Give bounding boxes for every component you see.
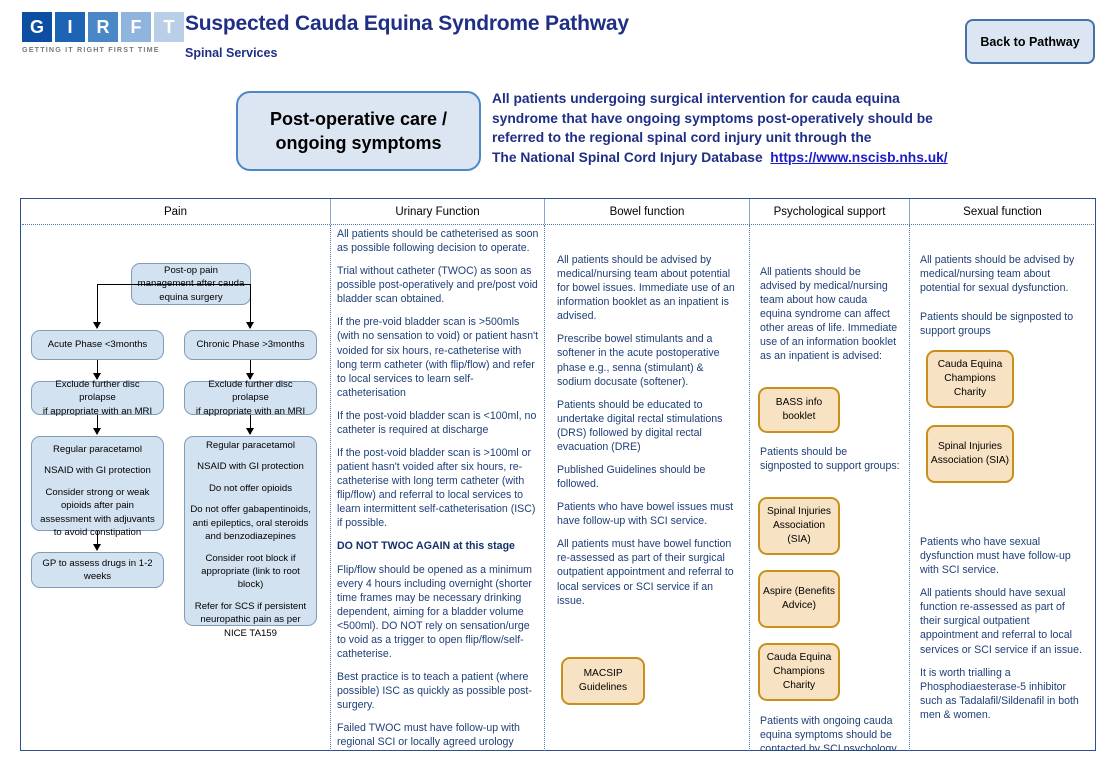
post-operative-care-box: Post-operative care / ongoing symptoms: [236, 91, 481, 171]
urinary-bold-warning-text: DO NOT TWOC AGAIN at this stage: [337, 540, 515, 552]
sexual-body-text: Patients who have sexual dysfunction mus…: [920, 535, 1088, 722]
urinary-para-5: catheter is required at discharge: [337, 423, 539, 437]
bowel-body-text: All patients should be advised by medica…: [557, 253, 739, 608]
pain-gp-line1: GP to assess drugs in 1-2: [42, 557, 152, 570]
banner-section: Post-operative care / ongoing symptoms A…: [0, 86, 1100, 182]
pain-chronic-phase-box: Chronic Phase >3months: [184, 330, 317, 360]
logo-square-f: F: [121, 12, 151, 42]
pain-right-arrow: [246, 322, 254, 329]
sex-sia-line3: (SIA): [986, 455, 1009, 466]
page-subtitle: Spinal Services: [185, 46, 277, 60]
pain-chronic-medication-box: Regular paracetamol NSAID with GI protec…: [184, 436, 317, 626]
aspire-line3: Advice): [782, 600, 816, 611]
back-to-pathway-button[interactable]: Back to Pathway: [965, 19, 1095, 64]
logo-square-t: T: [154, 12, 184, 42]
psych-signpost-text: Patients should be signposted to support…: [760, 445, 900, 473]
psych-intro-text: All patients should be advised by medica…: [760, 265, 900, 364]
pain-split-line: [97, 284, 251, 285]
table-header-row: Pain Urinary Function Bowel function Psy…: [21, 199, 1095, 224]
column-psychological: All patients should be advised by medica…: [750, 225, 910, 751]
pain-acute-med-2: NSAID with GI protection: [37, 464, 158, 477]
pain-chronic-meds-arrow: [246, 428, 254, 435]
urinary-bold-warning: DO NOT TWOC AGAIN at this stage: [337, 539, 539, 553]
pain-gp-line2: weeks: [42, 570, 152, 583]
banner-text-line4: The National Spinal Cord Injury Database…: [492, 148, 1092, 168]
column-bowel: All patients should be advised by medica…: [545, 225, 750, 751]
macsip-line2: Guidelines: [579, 682, 627, 693]
pain-acute-med-1: Regular paracetamol: [37, 443, 158, 456]
psych-cecc-line1: Cauda Equina: [767, 652, 832, 663]
banner-box-line2: ongoing symptoms: [276, 131, 442, 155]
column-urinary: All patients should be catheterised as s…: [331, 225, 545, 751]
logo-tagline: GETTING IT RIGHT FIRST TIME: [22, 45, 184, 54]
column-header-urinary: Urinary Function: [331, 199, 545, 224]
pain-gp-arrow: [93, 544, 101, 551]
table-body-row: Post-op pain management after cauda equi…: [21, 225, 1095, 751]
sex-cecc-line2: Champions: [944, 373, 996, 384]
banner-text-line2: syndrome that have ongoing symptoms post…: [492, 109, 1092, 129]
column-header-pain: Pain: [21, 199, 331, 224]
pain-acute-medication-box: Regular paracetamol NSAID with GI protec…: [31, 436, 164, 531]
aspire-line2: (Benefits: [795, 586, 835, 597]
pain-acute-meds-arrow: [93, 428, 101, 435]
pathway-table: Pain Urinary Function Bowel function Psy…: [20, 198, 1096, 751]
psych-sia-line3: (SIA): [787, 534, 810, 545]
bowel-para-1: All patients should be advised by medica…: [557, 253, 739, 323]
sexual-intro-text: All patients should be advised by medica…: [920, 253, 1088, 295]
pain-gp-review-box: GP to assess drugs in 1-2 weeks: [31, 552, 164, 588]
nscisb-link[interactable]: https://www.nscisb.nhs.uk/: [770, 150, 947, 165]
page-header: G I R F T GETTING IT RIGHT FIRST TIME Su…: [0, 0, 1100, 82]
urinary-para-1: All patients should be catheterised as s…: [337, 227, 539, 255]
banner-box-line1: Post-operative care /: [270, 107, 447, 131]
pain-root-line1: Post-op pain: [138, 264, 245, 277]
sex-sia-line1: Spinal Injuries: [938, 441, 1002, 452]
column-header-psychological: Psychological support: [750, 199, 910, 224]
bowel-para-2: Prescribe bowel stimulants and a softene…: [557, 332, 739, 388]
pathway-page: G I R F T GETTING IT RIGHT FIRST TIME Su…: [0, 0, 1100, 761]
logo-squares: G I R F T: [22, 12, 184, 42]
urinary-para-4a: If the post-void bladder scan is <100ml,…: [337, 410, 536, 422]
sexual-signpost-text: Patients should be signposted to support…: [920, 310, 1088, 338]
aspire-benefits-advice-button[interactable]: Aspire (Benefits Advice): [758, 570, 840, 628]
page-title: Suspected Cauda Equina Syndrome Pathway: [185, 12, 629, 36]
psych-sia-line1: Spinal Injuries: [767, 506, 831, 517]
sexual-para-3: It is worth trialling a Phosphodiaestera…: [920, 666, 1088, 722]
pain-root-line3: equina surgery: [138, 291, 245, 304]
pain-chronic-med-5: Consider root block if appropriate (link…: [190, 552, 311, 592]
column-header-sexual: Sexual function: [910, 199, 1095, 224]
pain-chronic-med-4: Do not offer gabapentinoids, anti epilep…: [190, 503, 311, 543]
banner-text-line3: referred to the regional spinal cord inj…: [492, 128, 1092, 148]
aspire-line1: Aspire: [763, 586, 792, 597]
pain-chronic-phase-label: Chronic Phase >3months: [197, 338, 305, 351]
pain-left-arrow: [93, 322, 101, 329]
bass-line1: BASS info: [776, 397, 822, 408]
urinary-para-6: If the post-void bladder scan is >100ml …: [337, 446, 539, 530]
sex-sia-line2: Association: [931, 455, 983, 466]
sexual-para-1: Patients who have sexual dysfunction mus…: [920, 535, 1088, 577]
logo-square-g: G: [22, 12, 52, 42]
banner-text-line1: All patients undergoing surgical interve…: [492, 89, 1092, 109]
psych-cecc-line3: Charity: [783, 680, 815, 691]
pain-acute-phase-label: Acute Phase <3months: [48, 338, 147, 351]
banner-database-label: The National Spinal Cord Injury Database: [492, 150, 763, 165]
urinary-para-3: If the pre-void bladder scan is >500mls …: [337, 315, 539, 399]
pain-exclude-left-line1: Exclude further disc prolapse: [37, 378, 158, 405]
psych-outro-text: Patients with ongoing cauda equina sympt…: [760, 714, 900, 751]
urinary-para-4: If the post-void bladder scan is <100ml,…: [337, 409, 539, 423]
psych-sia-line2: Association: [773, 520, 825, 531]
pain-exclude-right-box: Exclude further disc prolapse if appropr…: [184, 381, 317, 415]
banner-description: All patients undergoing surgical interve…: [492, 89, 1092, 167]
girft-logo: G I R F T GETTING IT RIGHT FIRST TIME: [22, 12, 184, 54]
bass-info-booklet-button[interactable]: BASS info booklet: [758, 387, 840, 433]
sexual-para-2: All patients should have sexual function…: [920, 586, 1088, 656]
column-pain: Post-op pain management after cauda equi…: [21, 225, 331, 751]
bowel-para-3: Patients should be educated to undertake…: [557, 398, 739, 454]
urinary-para-2: Trial without catheter (TWOC) as soon as…: [337, 264, 539, 306]
cauda-equina-champions-charity-button-sexual[interactable]: Cauda Equina Champions Charity: [926, 350, 1014, 408]
urinary-para-8: Best practice is to teach a patient (whe…: [337, 670, 539, 712]
column-sexual: All patients should be advised by medica…: [910, 225, 1095, 751]
urinary-para-7: Flip/flow should be opened as a minimum …: [337, 563, 539, 662]
column-header-bowel: Bowel function: [545, 199, 750, 224]
pain-chronic-med-2: NSAID with GI protection: [190, 460, 311, 473]
psych-cecc-line2: Champions: [773, 666, 825, 677]
pain-chronic-med-3: Do not offer opioids: [190, 482, 311, 495]
sex-cecc-line3: Charity: [954, 387, 986, 398]
bowel-para-5: Patients who have bowel issues must have…: [557, 500, 739, 528]
logo-square-r: R: [88, 12, 118, 42]
bowel-para-4: Published Guidelines should be followed.: [557, 463, 739, 491]
macsip-line1: MACSIP: [584, 668, 623, 679]
macsip-guidelines-button[interactable]: MACSIP Guidelines: [561, 657, 645, 705]
pain-chronic-med-1: Regular paracetamol: [190, 439, 311, 452]
bowel-para-6: All patients must have bowel function re…: [557, 537, 739, 607]
urinary-para-9: Failed TWOC must have follow-up with reg…: [337, 721, 539, 751]
bass-line2: booklet: [783, 411, 816, 422]
urinary-body-text: All patients should be catheterised as s…: [337, 227, 539, 751]
spinal-injuries-association-button-sexual[interactable]: Spinal Injuries Association (SIA): [926, 425, 1014, 483]
logo-square-i: I: [55, 12, 85, 42]
sex-cecc-line1: Cauda Equina: [938, 359, 1003, 370]
pain-exclude-right-line1: Exclude further disc prolapse: [190, 378, 311, 405]
spinal-injuries-association-button[interactable]: Spinal Injuries Association (SIA): [758, 497, 840, 555]
cauda-equina-champions-charity-button-psych[interactable]: Cauda Equina Champions Charity: [758, 643, 840, 701]
pain-acute-phase-box: Acute Phase <3months: [31, 330, 164, 360]
pain-exclude-left-box: Exclude further disc prolapse if appropr…: [31, 381, 164, 415]
pain-chronic-med-6: Refer for SCS if persistent neuropathic …: [190, 600, 311, 640]
